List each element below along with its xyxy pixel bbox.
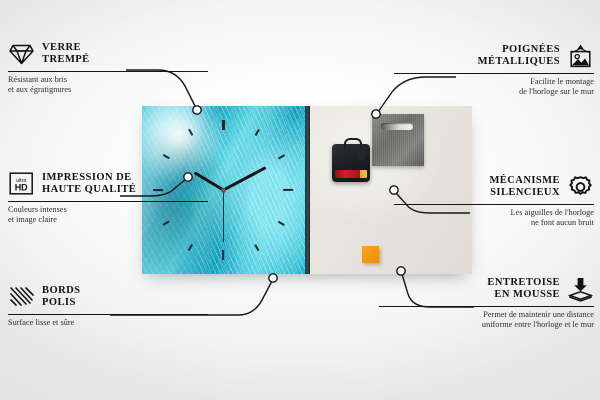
feature-mecanisme-silencieux[interactable]: MÉCANISME SILENCIEUX Les aiguilles de l'… [394, 173, 594, 227]
keyhole-slot [381, 123, 413, 130]
feature-bords-polis[interactable]: BORDS POLIS Surface lisse et sûre [8, 283, 208, 328]
clock-tick [162, 154, 169, 159]
clock-tick [284, 189, 294, 191]
gear-icon [567, 173, 594, 200]
feature-divider [394, 204, 594, 205]
feature-verre-trempe[interactable]: VERRE TREMPÉ Résistant aux bris et aux é… [8, 40, 208, 94]
clock-tick [254, 129, 259, 136]
clock-tick [222, 250, 224, 260]
infographic-canvas: VERRE TREMPÉ Résistant aux bris et aux é… [0, 0, 600, 400]
feature-title: BORDS POLIS [42, 285, 80, 308]
hanger-loop [344, 138, 362, 149]
foam-spacer [362, 246, 379, 263]
feature-header: POIGNÉES MÉTALLIQUES [394, 42, 594, 69]
clock-tick [278, 221, 285, 226]
down-arrow-pad-icon [567, 275, 594, 302]
feature-subtitle: Couleurs intenses et image claire [8, 205, 208, 224]
endpoint-bords-polis [269, 274, 277, 282]
clock-tick [188, 129, 193, 136]
feature-subtitle: Permet de maintenir une distance uniform… [379, 310, 594, 329]
feature-divider [8, 201, 208, 202]
feature-subtitle: Résistant aux bris et aux égratignures [8, 75, 208, 94]
feature-header: ultra HD IMPRESSION DE HAUTE QUALITÉ [8, 170, 208, 197]
feature-header: MÉCANISME SILENCIEUX [394, 173, 594, 200]
feature-subtitle: Facilite le montage de l'horloge sur le … [394, 77, 594, 96]
feature-poignees-metalliques[interactable]: POIGNÉES MÉTALLIQUES Facilite le montage… [394, 42, 594, 96]
feature-header: ENTRETOISE EN MOUSSE [379, 275, 594, 302]
feature-title: POIGNÉES MÉTALLIQUES [478, 44, 560, 67]
svg-text:HD: HD [15, 183, 28, 193]
feature-subtitle: Les aiguilles de l'horloge ne font aucun… [394, 208, 594, 227]
clock-center-pin [221, 188, 226, 193]
metal-hanger-plate [372, 114, 424, 166]
clock-second-hand [223, 190, 225, 242]
feature-title: IMPRESSION DE HAUTE QUALITÉ [42, 172, 136, 195]
feature-divider [8, 71, 208, 72]
clock-minute-hand [223, 166, 267, 191]
picture-frame-hanger-icon [567, 42, 594, 69]
feature-title: ENTRETOISE EN MOUSSE [487, 277, 560, 300]
clock-mechanism [332, 144, 370, 182]
clock-tick [188, 244, 193, 251]
ultra-hd-icon: ultra HD [8, 170, 35, 197]
clock-tick [254, 244, 259, 251]
aa-battery [335, 170, 367, 178]
polished-edges-icon [8, 283, 35, 310]
feature-entretoise-en-mousse[interactable]: ENTRETOISE EN MOUSSE Permet de maintenir… [379, 275, 594, 329]
metal-grain [372, 114, 424, 166]
clock-tick [222, 120, 224, 130]
diamond-icon [8, 40, 35, 67]
feature-title: MÉCANISME SILENCIEUX [489, 175, 560, 198]
feature-subtitle: Surface lisse et sûre [8, 318, 208, 328]
feature-divider [8, 314, 208, 315]
feature-divider [379, 306, 594, 307]
mechanism-knob [357, 150, 365, 160]
feature-divider [394, 73, 594, 74]
clock-tick [278, 154, 285, 159]
feature-header: VERRE TREMPÉ [8, 40, 208, 67]
feature-impression-haute-qualite[interactable]: ultra HD IMPRESSION DE HAUTE QUALITÉ Cou… [8, 170, 208, 224]
feature-header: BORDS POLIS [8, 283, 208, 310]
feature-title: VERRE TREMPÉ [42, 42, 90, 65]
